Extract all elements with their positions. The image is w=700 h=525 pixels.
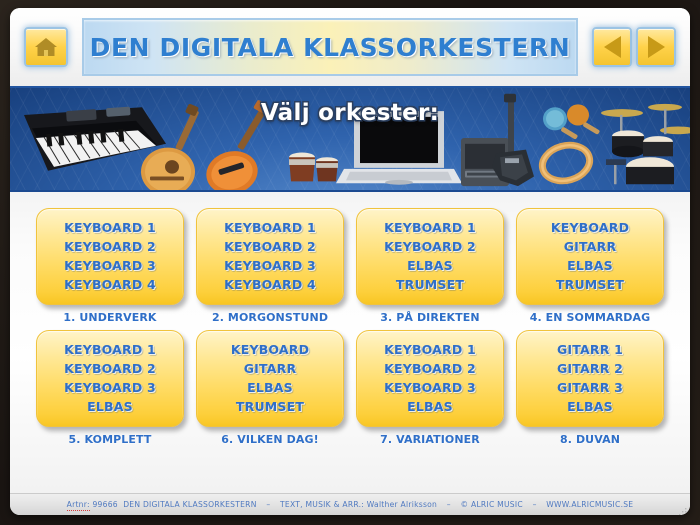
card-part: KEYBOARD bbox=[551, 219, 629, 237]
card-part: KEYBOARD 2 bbox=[384, 238, 476, 256]
card-part: KEYBOARD 2 bbox=[224, 238, 316, 256]
card-part: GITARR bbox=[564, 238, 617, 256]
orchestra-caption-5: 5. KOMPLETT bbox=[36, 433, 184, 446]
card-part: ELBAS bbox=[247, 379, 293, 397]
orchestra-card-3[interactable]: KEYBOARD 1 KEYBOARD 2 ELBAS TRUMSET bbox=[356, 208, 504, 305]
orchestra-grid: KEYBOARD 1 KEYBOARD 2 KEYBOARD 3 KEYBOAR… bbox=[10, 192, 690, 493]
card-part: TRUMSET bbox=[236, 398, 304, 416]
orchestra-caption-2: 2. MORGONSTUND bbox=[196, 311, 344, 324]
footer-copyright: © ALRIC MUSIC bbox=[461, 500, 523, 509]
orchestra-cell: KEYBOARD 1 KEYBOARD 2 KEYBOARD 3 ELBAS 7… bbox=[356, 330, 504, 446]
orchestra-cell: KEYBOARD 1 KEYBOARD 2 KEYBOARD 3 ELBAS 5… bbox=[36, 330, 184, 446]
card-part: KEYBOARD 2 bbox=[64, 238, 156, 256]
footer-separator: – bbox=[526, 500, 544, 509]
instrument-banner: Välj orkester: bbox=[10, 86, 690, 192]
card-part: KEYBOARD 1 bbox=[64, 341, 156, 359]
orchestra-cell: KEYBOARD GITARR ELBAS TRUMSET 4. EN SOMM… bbox=[516, 208, 664, 324]
orchestra-card-8[interactable]: GITARR 1 GITARR 2 GITARR 3 ELBAS bbox=[516, 330, 664, 427]
orchestra-caption-6: 6. VILKEN DAG! bbox=[196, 433, 344, 446]
card-part: KEYBOARD 3 bbox=[224, 257, 316, 275]
card-part: ELBAS bbox=[567, 257, 613, 275]
card-part: ELBAS bbox=[87, 398, 133, 416]
card-part: GITARR bbox=[244, 360, 297, 378]
orchestra-row-2: KEYBOARD 1 KEYBOARD 2 KEYBOARD 3 ELBAS 5… bbox=[36, 330, 664, 446]
card-part: KEYBOARD bbox=[231, 341, 309, 359]
orchestra-cell: KEYBOARD 1 KEYBOARD 2 ELBAS TRUMSET 3. P… bbox=[356, 208, 504, 324]
title-bar: DEN DIGITALA KLASSORKESTERN bbox=[82, 18, 578, 76]
orchestra-card-5[interactable]: KEYBOARD 1 KEYBOARD 2 KEYBOARD 3 ELBAS bbox=[36, 330, 184, 427]
resize-grip-icon[interactable] bbox=[678, 504, 687, 513]
card-part: KEYBOARD 1 bbox=[384, 219, 476, 237]
orchestra-caption-4: 4. EN SOMMARDAG bbox=[516, 311, 664, 324]
orchestra-cell: GITARR 1 GITARR 2 GITARR 3 ELBAS 8. DUVA… bbox=[516, 330, 664, 446]
footer-separator: – bbox=[440, 500, 458, 509]
card-part: KEYBOARD 3 bbox=[64, 257, 156, 275]
arrow-left-icon bbox=[604, 36, 621, 58]
card-part: GITARR 1 bbox=[557, 341, 623, 359]
orchestra-caption-7: 7. VARIATIONER bbox=[356, 433, 504, 446]
card-part: KEYBOARD 2 bbox=[384, 360, 476, 378]
orchestra-row-1: KEYBOARD 1 KEYBOARD 2 KEYBOARD 3 KEYBOAR… bbox=[36, 208, 664, 324]
app-header: DEN DIGITALA KLASSORKESTERN bbox=[10, 8, 690, 86]
home-icon bbox=[33, 35, 59, 59]
card-part: KEYBOARD 1 bbox=[64, 219, 156, 237]
orchestra-caption-3: 3. PÅ DIREKTEN bbox=[356, 311, 504, 324]
arrow-right-icon bbox=[648, 36, 665, 58]
footer-artnr-value: 99666 bbox=[92, 500, 117, 509]
footer-bar: Artnr: 99666 DEN DIGITALA KLASSORKESTERN… bbox=[10, 493, 690, 515]
card-part: GITARR 2 bbox=[557, 360, 623, 378]
card-part: GITARR 3 bbox=[557, 379, 623, 397]
footer-separator: – bbox=[259, 500, 277, 509]
navigation-buttons bbox=[592, 27, 676, 67]
card-part: KEYBOARD 4 bbox=[224, 276, 316, 294]
bongos-illustration bbox=[289, 152, 338, 181]
card-part: ELBAS bbox=[407, 398, 453, 416]
orchestra-card-4[interactable]: KEYBOARD GITARR ELBAS TRUMSET bbox=[516, 208, 664, 305]
content-panel: DEN DIGITALA KLASSORKESTERN bbox=[10, 8, 690, 515]
card-part: KEYBOARD 4 bbox=[64, 276, 156, 294]
next-button[interactable] bbox=[636, 27, 676, 67]
footer-work-title: DEN DIGITALA KLASSORKESTERN bbox=[123, 500, 256, 509]
orchestra-card-2[interactable]: KEYBOARD 1 KEYBOARD 2 KEYBOARD 3 KEYBOAR… bbox=[196, 208, 344, 305]
card-part: ELBAS bbox=[567, 398, 613, 416]
card-part: KEYBOARD 1 bbox=[224, 219, 316, 237]
orchestra-cell: KEYBOARD GITARR ELBAS TRUMSET 6. VILKEN … bbox=[196, 330, 344, 446]
prev-button[interactable] bbox=[592, 27, 632, 67]
orchestra-caption-8: 8. DUVAN bbox=[516, 433, 664, 446]
orchestra-caption-1: 1. UNDERVERK bbox=[36, 311, 184, 324]
card-part: TRUMSET bbox=[396, 276, 464, 294]
banner-caption: Välj orkester: bbox=[10, 100, 690, 126]
footer-credit-line: TEXT, MUSIK & ARR.: Walther Alriksson bbox=[280, 500, 437, 509]
footer-artnr-label: Artnr: bbox=[67, 500, 90, 511]
home-button[interactable] bbox=[24, 27, 68, 67]
footer-website[interactable]: WWW.ALRICMUSIC.SE bbox=[546, 500, 633, 509]
card-part: TRUMSET bbox=[556, 276, 624, 294]
page-title: DEN DIGITALA KLASSORKESTERN bbox=[90, 33, 571, 62]
orchestra-card-6[interactable]: KEYBOARD GITARR ELBAS TRUMSET bbox=[196, 330, 344, 427]
footer-credits: Artnr: 99666 DEN DIGITALA KLASSORKESTERN… bbox=[67, 500, 634, 509]
orchestra-card-7[interactable]: KEYBOARD 1 KEYBOARD 2 KEYBOARD 3 ELBAS bbox=[356, 330, 504, 427]
tambourine-illustration bbox=[538, 140, 594, 186]
app-window: DEN DIGITALA KLASSORKESTERN bbox=[0, 0, 700, 525]
orchestra-cell: KEYBOARD 1 KEYBOARD 2 KEYBOARD 3 KEYBOAR… bbox=[196, 208, 344, 324]
orchestra-cell: KEYBOARD 1 KEYBOARD 2 KEYBOARD 3 KEYBOAR… bbox=[36, 208, 184, 324]
orchestra-card-1[interactable]: KEYBOARD 1 KEYBOARD 2 KEYBOARD 3 KEYBOAR… bbox=[36, 208, 184, 305]
card-part: KEYBOARD 3 bbox=[384, 379, 476, 397]
card-part: KEYBOARD 3 bbox=[64, 379, 156, 397]
card-part: KEYBOARD 2 bbox=[64, 360, 156, 378]
card-part: KEYBOARD 1 bbox=[384, 341, 476, 359]
card-part: ELBAS bbox=[407, 257, 453, 275]
